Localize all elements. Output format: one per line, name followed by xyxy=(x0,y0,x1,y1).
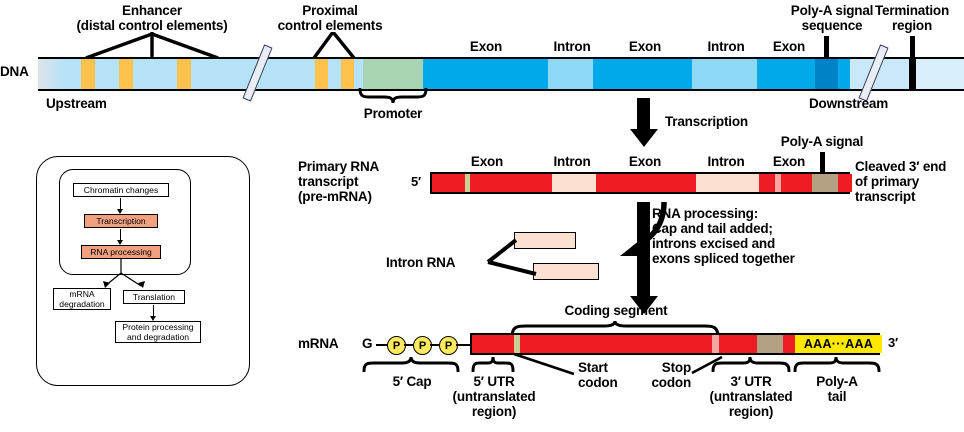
utr5-line3: region) xyxy=(472,404,516,419)
enhancer-element-2 xyxy=(119,59,133,89)
inset-branch-connector xyxy=(87,259,167,289)
stop-codon-line2: codon xyxy=(652,375,692,390)
utr3-line3: region) xyxy=(729,404,773,419)
intron-rna-connector xyxy=(460,232,546,282)
utr5-line1: 5′ UTR xyxy=(473,374,514,389)
enhancer-element-1 xyxy=(81,59,95,89)
cap-link-3 xyxy=(430,344,439,346)
cleaved-line1: Cleaved 3′ end xyxy=(855,159,946,174)
pre-mrna-label-intron-2: Intron xyxy=(707,154,744,169)
utr5-label: 5′ UTR (untranslated region) xyxy=(453,374,536,419)
transcription-arrow-label: Transcription xyxy=(665,114,748,129)
inset-chromatin-changes: Chromatin changes xyxy=(73,183,169,197)
inset-protein-processing: Protein processing and degradation xyxy=(115,321,201,343)
pre-mrna-strand xyxy=(430,172,850,194)
cleaved-end-label: Cleaved 3′ end of primary transcript xyxy=(855,159,946,204)
mrna-utr3b xyxy=(783,335,795,353)
polya-tail-line2: tail xyxy=(828,389,847,404)
dna-label-exon-1: Exon xyxy=(470,39,502,54)
dna-exon-3b xyxy=(838,59,850,89)
mrna-utr3a xyxy=(719,335,757,353)
start-codon-line2: codon xyxy=(578,375,618,390)
pre-mrna-polya-signal-label: Poly-A signal xyxy=(781,134,863,149)
polya-tail-brace xyxy=(793,356,881,372)
pre-mrna-intron-2 xyxy=(696,174,759,192)
processing-line1: RNA processing: xyxy=(652,206,758,221)
inset-arrow-2 xyxy=(120,229,121,240)
inset-arrow-1 xyxy=(120,198,121,209)
pre-mrna-exon-1b xyxy=(470,174,552,192)
intron-rna-label: Intron RNA xyxy=(386,255,455,270)
cleaved-line3: transcript xyxy=(855,189,915,204)
pre-mrna-label-exon-1: Exon xyxy=(471,154,503,169)
utr3-label: 3′ UTR (untranslated region) xyxy=(710,374,793,419)
polya-tail-text: AAA···AAA xyxy=(804,337,873,351)
pre-mrna-label-line3: (pre-mRNA) xyxy=(298,189,372,204)
proximal-label-line1: Proximal xyxy=(302,3,357,18)
processing-line3: introns excised and xyxy=(652,236,775,251)
dna-exon-3 xyxy=(757,59,815,89)
polya-tail-line1: Poly-A xyxy=(816,374,858,389)
gene-expression-stages-inset: Chromatin changes Transcription RNA proc… xyxy=(36,156,250,386)
pre-mrna-exon-3a xyxy=(759,174,775,192)
mrna-polya-tail: AAA···AAA xyxy=(795,335,882,353)
promoter-region xyxy=(363,59,423,89)
inset-translation: Translation xyxy=(123,290,185,304)
cap-link-4 xyxy=(456,344,470,346)
inset-rna-processing: RNA processing xyxy=(81,245,161,259)
utr3-line2: (untranslated xyxy=(710,389,793,404)
dna-label-intron-1: Intron xyxy=(553,39,590,54)
utr5-brace xyxy=(471,356,515,372)
pre-mrna-label-line2: transcript xyxy=(298,174,358,189)
inset-arrow-3 xyxy=(153,305,154,316)
pre-mrna-label-intron-1: Intron xyxy=(553,154,590,169)
enhancer-connector xyxy=(80,32,280,60)
polya-signal-tick xyxy=(824,36,829,58)
inset-mrna-degradation: mRNA degradation xyxy=(53,288,111,310)
dna-intron-1 xyxy=(548,59,593,89)
pre-mrna-polya-signal xyxy=(812,174,838,192)
start-codon-label: Start codon xyxy=(578,360,618,390)
inset-protein-line1: Protein processing xyxy=(122,322,193,332)
utr5-line2: (untranslated xyxy=(453,389,536,404)
mrna-row-label: mRNA xyxy=(298,336,338,351)
dna-upstream-fade xyxy=(38,59,64,89)
utr3-brace xyxy=(711,356,791,372)
termination-line2: region xyxy=(892,18,932,33)
termination-region-tick xyxy=(910,36,915,58)
enhancer-element-3 xyxy=(177,59,191,89)
pre-mrna-exon-3c xyxy=(838,174,852,192)
upstream-label: Upstream xyxy=(46,96,107,111)
polya-tail-label: Poly-A tail xyxy=(816,374,858,404)
pre-mrna-label-exon-3: Exon xyxy=(773,154,805,169)
pre-mrna-label-exon-2: Exon xyxy=(629,154,661,169)
promoter-brace xyxy=(358,88,428,104)
utr3-line1: 3′ UTR xyxy=(730,374,771,389)
inset-protein-line2: and degradation xyxy=(127,332,189,342)
pre-mrna-row-label: Primary RNA transcript (pre-mRNA) xyxy=(298,159,379,204)
pre-mrna-exon-2 xyxy=(596,174,696,192)
dna-label-exon-3: Exon xyxy=(773,39,805,54)
termination-line1: Termination xyxy=(875,3,949,18)
proximal-label-line2: control elements xyxy=(278,18,383,33)
rna-processing-text: RNA processing: Cap and tail added; intr… xyxy=(652,206,795,266)
dna-far-downstream xyxy=(916,59,964,89)
pre-mrna-polya-tick xyxy=(820,152,825,172)
termination-region-label: Termination region xyxy=(875,3,949,33)
pre-mrna-label-line1: Primary RNA xyxy=(298,159,379,174)
mrna-three-prime: 3′ xyxy=(888,335,898,350)
cap-label: 5′ Cap xyxy=(393,374,432,389)
enhancer-label-line1: Enhancer xyxy=(122,3,182,18)
dna-row-label: DNA xyxy=(0,64,29,79)
dna-termination-block xyxy=(909,59,916,89)
inset-mrna-deg-line1: mRNA xyxy=(69,289,94,299)
transcription-arrow xyxy=(637,98,650,130)
proximal-connector xyxy=(308,32,368,60)
stop-codon-label: Stop codon xyxy=(613,360,691,390)
polya-signal-sequence-label: Poly-A signal sequence xyxy=(791,3,873,33)
stop-codon-line1: Stop xyxy=(662,360,691,375)
processing-line4: exons spliced together xyxy=(652,251,795,266)
polya-signal-line2: sequence xyxy=(802,18,863,33)
enhancer-label-line2: (distal control elements) xyxy=(76,18,227,33)
mrna-coding-region xyxy=(520,335,712,353)
enhancer-label: Enhancer (distal control elements) xyxy=(76,3,227,33)
dna-exon-1 xyxy=(423,59,548,89)
proximal-control-label: Proximal control elements xyxy=(278,3,383,33)
mrna-polya-signal xyxy=(757,335,783,353)
mrna-stop-codon xyxy=(712,335,719,353)
mrna-g-label: G xyxy=(362,336,372,351)
pre-mrna-intron-1 xyxy=(552,174,596,192)
pre-mrna-exon-3b xyxy=(781,174,812,192)
cap-link-2 xyxy=(404,344,413,346)
dna-label-intron-2: Intron xyxy=(707,39,744,54)
start-codon-line1: Start xyxy=(578,360,608,375)
mrna-utr5 xyxy=(472,335,514,353)
dna-polya-signal xyxy=(815,59,838,89)
dna-label-exon-2: Exon xyxy=(629,39,661,54)
promoter-label: Promoter xyxy=(364,106,422,121)
cap-link-1 xyxy=(376,344,387,346)
inset-transcription: Transcription xyxy=(84,214,158,228)
processing-line2: Cap and tail added; xyxy=(652,221,773,236)
proximal-element-1 xyxy=(315,59,328,89)
dna-strand xyxy=(38,57,964,91)
dna-intron-2 xyxy=(692,59,757,89)
polya-signal-line1: Poly-A signal xyxy=(791,3,873,18)
pre-mrna-five-prime: 5′ xyxy=(411,174,421,189)
coding-segment-label: Coding segment xyxy=(565,303,668,318)
cleaved-line2: of primary xyxy=(855,174,919,189)
dna-exon-2 xyxy=(593,59,692,89)
inset-mrna-deg-line2: degradation xyxy=(59,299,104,309)
downstream-label: Downstream xyxy=(809,96,888,111)
cap-brace xyxy=(362,356,462,372)
proximal-element-2 xyxy=(341,59,354,89)
pre-mrna-exon-1a xyxy=(432,174,465,192)
